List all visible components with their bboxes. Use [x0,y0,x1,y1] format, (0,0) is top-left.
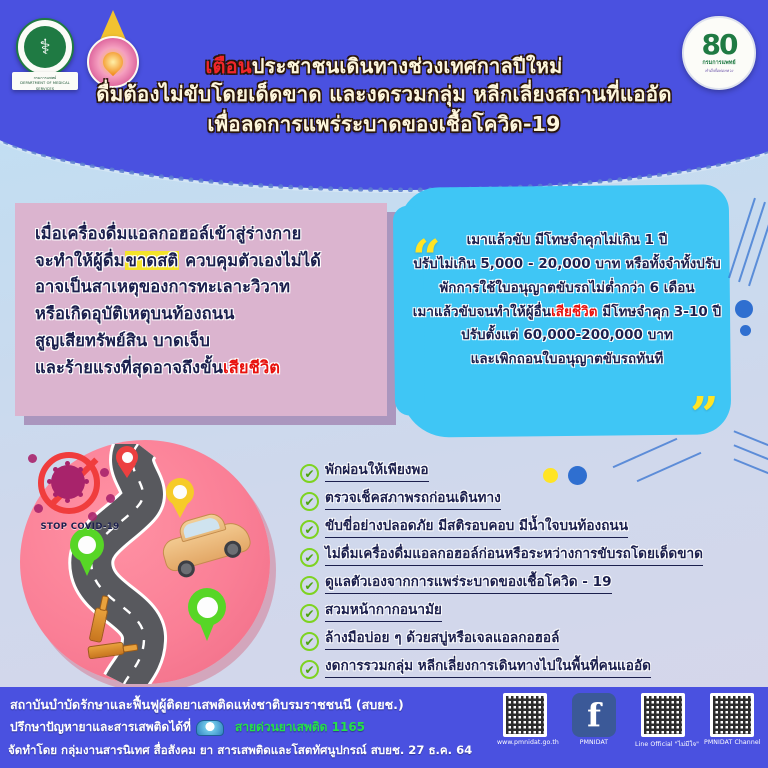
pink-line-3: อาจเป็นสาเหตุของการทะเลาะวิวาท [35,274,373,301]
qr-code-icon [710,693,754,737]
stop-covid-graphic: STOP COVID-19 [26,450,126,540]
social-line-qr[interactable]: Line Official "ไม่มีใจ" [635,693,691,749]
quote-line-3: พักการใช้ใบอนุญาตขับรถไม่ต่ำกว่า 6 เดือน [402,277,732,301]
check-circle-icon: ✔ [300,464,319,483]
qr-code-icon [641,693,685,737]
alcohol-effects-panel: เมื่อเครื่องดื่มแอลกอฮอล์เข้าสู่ร่างกาย … [15,203,387,416]
social-channel-label: PMNIDAT Channel [704,739,760,746]
checklist-item-label: ดูแลตัวเองจากการแพร่ระบาดของเชื้อโควิด -… [325,574,612,594]
qr-code-icon [503,693,547,737]
check-circle-icon: ✔ [300,604,319,623]
footer-consult-label: ปรึกษาปัญหายาและสารเสพติดได้ที่ [10,718,191,737]
checklist-item[interactable]: ✔ ขับขี่อย่างปลอดภัย มีสติรอบคอบ มีน้ำใจ… [300,518,760,545]
title-warning-word: เตือน [205,54,251,78]
footer-hotline-row: ปรึกษาปัญหายาและสารเสพติดได้ที่ สายด่วนย… [10,718,365,737]
pink-line-5: สูญเสียทรัพย์สิน บาดเจ็บ [35,328,373,355]
checklist-item-label: ตรวจเช็คสภาพรถก่อนเดินทาง [325,490,501,510]
check-circle-icon: ✔ [300,660,319,679]
pink-line-6-pre: และร้ายแรงที่สุดอาจถึงขั้น [35,358,223,377]
checklist-item[interactable]: ✔ สวมหน้ากากอนามัย [300,602,760,629]
phone-icon [196,720,224,736]
checklist-item-label: ขับขี่อย่างปลอดภัย มีสติรอบคอบ มีน้ำใจบน… [325,518,628,538]
social-line-label: Line Official "ไม่มีใจ" [635,739,691,749]
virus-particle-2 [100,468,109,477]
quote-line-6: และเพิกถอนใบอนุญาตขับรถทันที [402,348,732,372]
pink-line-1: เมื่อเครื่องดื่มแอลกอฮอล์เข้าสู่ร่างกาย [35,221,373,248]
footer-bar: สถาบันบำบัดรักษาและฟื้นฟูผู้ติดยาเสพติดแ… [0,687,768,768]
checklist-item[interactable]: ✔ ดูแลตัวเองจากการแพร่ระบาดของเชื้อโควิด… [300,574,760,601]
facebook-icon: f [572,693,616,737]
title-line-1-rest: ประชาชนเดินทางช่วงเทศกาลปีใหม่ [252,54,563,78]
penalty-text-block: เมาแล้วขับ มีโทษจำคุกไม่เกิน 1 ปี ปรับไม… [402,215,732,425]
virus-particle-3 [106,494,115,503]
checklist-item[interactable]: ✔ ไม่ดื่มเครื่องดื่มแอลกอฮอล์ก่อนหรือระห… [300,546,760,573]
social-website-label: www.pmnidat.go.th [497,739,553,746]
social-facebook[interactable]: f PMNIDAT [566,693,622,746]
pink-line-2-pre: จะทำให้ผู้ดื่ม [35,251,125,270]
virus-particle-5 [88,512,97,521]
checklist-item-label: สวมหน้ากากอนามัย [325,602,442,622]
check-circle-icon: ✔ [300,632,319,651]
road-safety-illustration: STOP COVID-19 [8,432,296,684]
footer-credits: จัดทำโดย กลุ่มงานสารนิเทศ สื่อสังคม ยา ส… [8,742,472,760]
header-title-block: เตือนประชาชนเดินทางช่วงเทศกาลปีใหม่ ดื่ม… [0,52,768,139]
safety-checklist: ✔ พักผ่อนให้เพียงพอ ✔ ตรวจเช็คสภาพรถก่อน… [300,462,760,686]
checklist-item-label: ล้างมือบ่อย ๆ ด้วยสบู่หรือเจลแอลกอฮอล์ [325,630,559,650]
pink-line-2-post: ควบคุมตัวเองไม่ได้ [179,251,321,270]
quote-line-4-pre: เมาแล้วขับจนทำให้ผู้อื่น [413,305,551,320]
check-circle-icon: ✔ [300,520,319,539]
pink-line-2-highlight: ขาดสติ [125,251,180,270]
social-facebook-label: PMNIDAT [566,739,622,746]
checklist-item-label: ไม่ดื่มเครื่องดื่มแอลกอฮอล์ก่อนหรือระหว่… [325,546,703,566]
footer-social-links: www.pmnidat.go.th f PMNIDAT Line Officia… [497,693,760,749]
stop-covid-label: STOP COVID-19 [26,522,134,532]
infographic-poster: ⚕ กรมการแพทย์ DEPARTMENT OF MEDICAL SERV… [0,0,768,768]
social-website-qr[interactable]: www.pmnidat.go.th [497,693,553,746]
checklist-item[interactable]: ✔ พักผ่อนให้เพียงพอ [300,462,760,489]
title-line-3: เพื่อลดการแพร่ระบาดของเชื้อโควิด-19 [0,110,768,139]
quote-line-4-post: มีโทษจำคุก 3-10 ปี [598,305,722,320]
quote-line-4-red: เสียชีวิต [551,305,598,320]
decor-dot-blue-large [735,300,753,318]
quote-line-4: เมาแล้วขับจนทำให้ผู้อื่นเสียชีวิต มีโทษจ… [402,301,732,325]
checklist-item[interactable]: ✔ งดการรวมกลุ่ม หลีกเลี่ยงการเดินทางไปใน… [300,658,760,685]
pink-line-4: หรือเกิดอุบัติเหตุบนท้องถนน [35,301,373,328]
quote-line-1: เมาแล้วขับ มีโทษจำคุกไม่เกิน 1 ปี [402,229,732,253]
virus-particle-1 [28,454,37,463]
checklist-item[interactable]: ✔ ตรวจเช็คสภาพรถก่อนเดินทาง [300,490,760,517]
social-youtube-qr[interactable]: PMNIDAT Channel [704,693,760,746]
quote-line-5: ปรับตั้งแต่ 60,000-200,000 บาท [402,324,732,348]
pink-line-6-red: เสียชีวิต [223,358,280,377]
checklist-item-label: งดการรวมกลุ่ม หลีกเลี่ยงการเดินทางไปในพื… [325,658,651,678]
title-line-2: ดื่มต้องไม่ขับโดยเด็ดขาด และงดรวมกลุ่ม ห… [0,80,768,109]
coronavirus-icon [51,465,85,499]
virus-particle-4 [34,504,43,513]
quote-line-2: ปรับไม่เกิน 5,000 - 20,000 บาท หรือทั้งจ… [402,253,732,277]
footer-organization-name: สถาบันบำบัดรักษาและฟื้นฟูผู้ติดยาเสพติดแ… [10,695,404,715]
check-circle-icon: ✔ [300,492,319,511]
pink-line-2: จะทำให้ผู้ดื่มขาดสติ ควบคุมตัวเองไม่ได้ [35,248,373,275]
title-line-1: เตือนประชาชนเดินทางช่วงเทศกาลปีใหม่ [0,52,768,80]
footer-hotline-number[interactable]: สายด่วนยาเสพติด 1165 [235,718,365,737]
checklist-item-label: พักผ่อนให้เพียงพอ [325,462,429,482]
check-circle-icon: ✔ [300,576,319,595]
checklist-item[interactable]: ✔ ล้างมือบ่อย ๆ ด้วยสบู่หรือเจลแอลกอฮอล์ [300,630,760,657]
check-circle-icon: ✔ [300,548,319,567]
decor-lines-top-right [735,196,768,292]
decor-dot-blue-small [740,325,751,336]
pink-line-6: และร้ายแรงที่สุดอาจถึงขั้นเสียชีวิต [35,355,373,382]
